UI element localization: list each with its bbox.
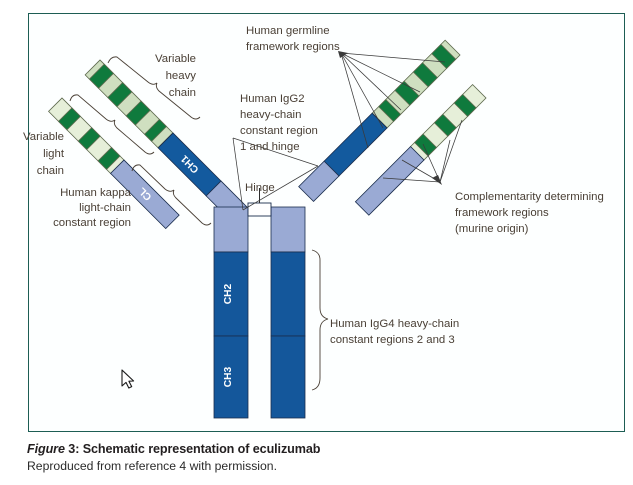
mouse-cursor (122, 370, 134, 388)
right-cl-body (355, 147, 424, 216)
variable-light-line-1: Variable (23, 131, 64, 143)
right-light-chain-cl (355, 147, 424, 216)
human-igg4-line-1: Human IgG4 heavy-chain (330, 318, 459, 330)
human-kappa-line-1: Human kappa (60, 187, 132, 199)
human-igg2-line-2: heavy-chain (240, 109, 301, 121)
label-hinge: Hinge (245, 182, 275, 194)
ch2-label: CH2 (223, 283, 234, 304)
label-human-igg2: Human IgG2 heavy-chain constant region 1… (240, 93, 318, 153)
variable-light-line-3: chain (37, 165, 64, 177)
figure-page: CH1 CL (0, 0, 633, 485)
human-kappa-line-2: light-chain (79, 202, 131, 214)
caption-figure-word: Figure (27, 442, 65, 456)
variable-heavy-line-3: chain (169, 87, 196, 99)
right-stem-hinge-region (271, 207, 305, 252)
caption-title-line: Figure 3: Schematic representation of ec… (27, 441, 607, 457)
right-stem-ch2 (271, 252, 305, 336)
label-variable-heavy-chain: Variable heavy chain (155, 53, 196, 99)
figure-caption: Figure 3: Schematic representation of ec… (27, 441, 607, 474)
label-complementarity: Complementarity determining framework re… (455, 191, 604, 235)
human-igg2-line-4: 1 and hinge (240, 141, 300, 153)
human-kappa-line-3: constant region (53, 217, 131, 229)
human-igg2-line-1: Human IgG2 (240, 93, 305, 105)
right-ch1-body (324, 113, 387, 176)
complementarity-line-2: framework regions (455, 207, 549, 219)
left-heavy-chain-ch1: CH1 (158, 133, 221, 196)
human-igg4-line-2: constant regions 2 and 3 (330, 334, 455, 346)
label-variable-light-chain: Variable light chain (23, 131, 65, 177)
variable-heavy-line-1: Variable (155, 53, 196, 65)
label-human-igg4: Human IgG4 heavy-chain constant regions … (330, 318, 459, 346)
complementarity-line-3: (murine origin) (455, 223, 529, 235)
antibody-diagram: CH1 CL (0, 0, 633, 440)
right-heavy-chain-ch1 (324, 113, 387, 176)
right-stem-ch3 (271, 336, 305, 418)
label-human-germline: Human germline framework regions (246, 25, 340, 53)
caption-credit: Reproduced from reference 4 with permiss… (27, 458, 607, 474)
human-igg2-line-3: constant region (240, 125, 318, 137)
complementarity-line-1: Complementarity determining (455, 191, 604, 203)
variable-light-line-2: light (43, 148, 65, 160)
caption-title-text: : Schematic representation of eculizumab (75, 442, 320, 456)
human-germline-line-2: framework regions (246, 41, 340, 53)
brace-human-igg4 (312, 250, 328, 390)
variable-heavy-line-2: heavy (166, 70, 197, 82)
ch3-label: CH3 (223, 366, 234, 387)
label-human-kappa: Human kappa light-chain constant region (53, 187, 132, 229)
human-germline-line-1: Human germline (246, 25, 330, 37)
left-stem-hinge-region (214, 207, 248, 252)
